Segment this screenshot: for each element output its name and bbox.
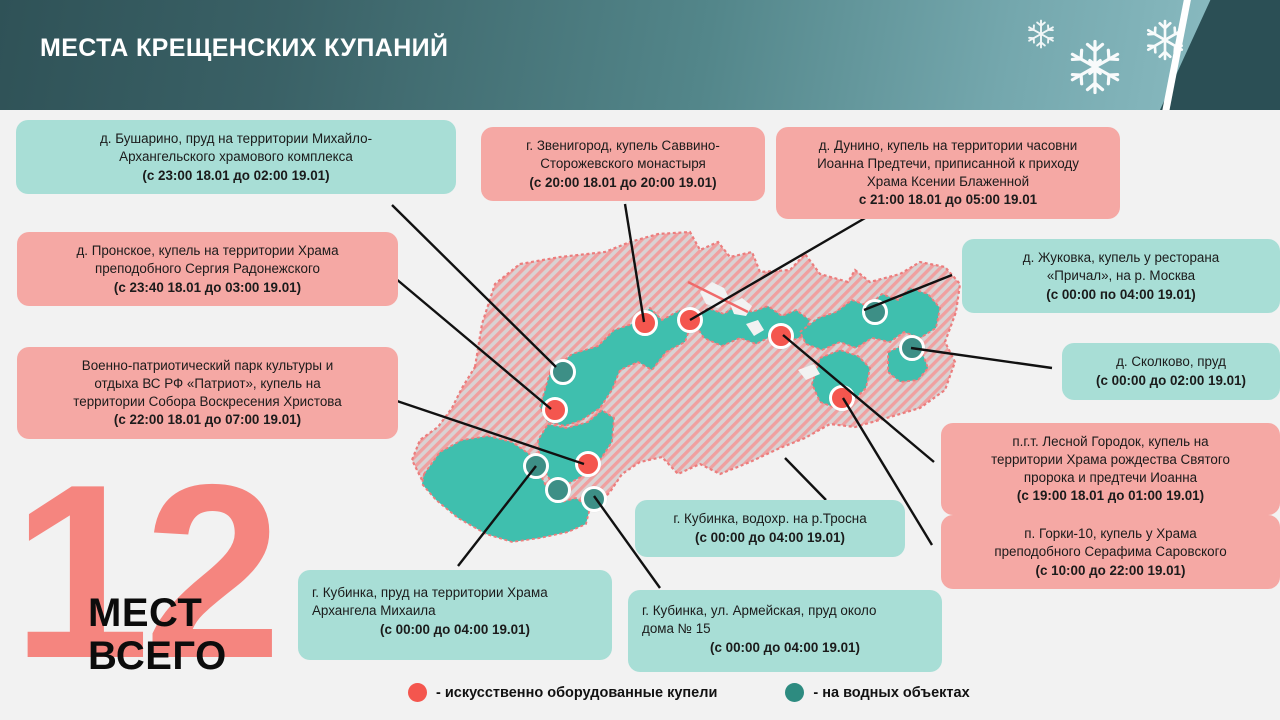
marker-pronskoe[interactable] <box>542 397 568 423</box>
card-line: Храма Ксении Блаженной <box>790 173 1106 191</box>
marker-kubinka-3[interactable] <box>581 486 607 512</box>
total-count-label-line1: МЕСТ <box>88 592 227 635</box>
card-time: (с 22:00 18.01 до 07:00 19.01) <box>31 411 384 429</box>
card-time: (с 23:40 18.01 до 03:00 19.01) <box>31 279 384 297</box>
legend-item-artificial: - искусственно оборудованные купели <box>408 683 717 702</box>
marker-zhukovka[interactable] <box>862 299 888 325</box>
marker-patriot[interactable] <box>575 451 601 477</box>
legend: - искусственно оборудованные купели - на… <box>408 683 970 702</box>
infographic-root: МЕСТА КРЕЩЕНСКИХ КУПАНИЙ <box>0 0 1280 720</box>
card-line: преподобного Серафима Саровского <box>955 543 1266 561</box>
card-line: пророка и предтечи Иоанна <box>955 469 1266 487</box>
card-line: преподобного Сергия Радонежского <box>31 260 384 278</box>
legend-label: - искусственно оборудованные купели <box>436 685 717 701</box>
card-kubinka-trosna[interactable]: г. Кубинка, водохр. на р.Тросна (с 00:00… <box>635 500 905 557</box>
legend-label: - на водных объектах <box>813 685 969 701</box>
marker-zvenigorod[interactable] <box>632 310 658 336</box>
card-dunino[interactable]: д. Дунино, купель на территории часовни … <box>776 127 1120 219</box>
snowflake-icon <box>1025 18 1057 50</box>
total-count-label-line2: ВСЕГО <box>88 635 227 678</box>
card-zvenigorod[interactable]: г. Звенигород, купель Саввино- Сторожевс… <box>481 127 765 201</box>
card-line: Архангельского храмового комплекса <box>30 148 442 166</box>
snowflake-icon <box>1143 18 1187 62</box>
marker-gorki10[interactable] <box>829 385 855 411</box>
card-line: территории Собора Воскресения Христова <box>31 393 384 411</box>
marker-busharino[interactable] <box>550 359 576 385</box>
marker-kubinka-1[interactable] <box>523 453 549 479</box>
card-gorki-10[interactable]: п. Горки-10, купель у Храма преподобного… <box>941 515 1280 589</box>
card-lesnoy-gorodok[interactable]: п.г.т. Лесной Городок, купель на террито… <box>941 423 1280 515</box>
card-line: д. Жуковка, купель у ресторана <box>976 249 1266 267</box>
card-line: д. Пронское, купель на территории Храма <box>31 242 384 260</box>
card-time: (с 23:00 18.01 до 02:00 19.01) <box>30 167 442 185</box>
legend-item-natural: - на водных объектах <box>785 683 969 702</box>
card-line: Архангела Михаила <box>312 602 598 620</box>
snowflake-icon <box>1066 38 1124 96</box>
marker-dunino[interactable] <box>677 307 703 333</box>
total-count-label: МЕСТ ВСЕГО <box>88 592 227 678</box>
card-line: «Причал», на р. Москва <box>976 267 1266 285</box>
page-header: МЕСТА КРЕЩЕНСКИХ КУПАНИЙ <box>0 0 1280 110</box>
card-line: г. Кубинка, ул. Армейская, пруд около <box>642 602 928 620</box>
card-time: (с 00:00 до 04:00 19.01) <box>649 529 891 547</box>
card-line: д. Сколково, пруд <box>1076 353 1266 371</box>
card-line: Сторожевского монастыря <box>495 155 751 173</box>
card-patriot[interactable]: Военно-патриотический парк культуры и от… <box>17 347 398 439</box>
legend-teal-dot-icon <box>785 683 804 702</box>
card-zhukovka[interactable]: д. Жуковка, купель у ресторана «Причал»,… <box>962 239 1280 313</box>
card-time: (с 10:00 до 22:00 19.01) <box>955 562 1266 580</box>
legend-red-dot-icon <box>408 683 427 702</box>
card-line: п.г.т. Лесной Городок, купель на <box>955 433 1266 451</box>
card-time: (с 19:00 18.01 до 01:00 19.01) <box>955 487 1266 505</box>
card-line: дома № 15 <box>642 620 928 638</box>
page-title: МЕСТА КРЕЩЕНСКИХ КУПАНИЙ <box>40 34 448 63</box>
marker-lesnoy[interactable] <box>768 323 794 349</box>
card-skolkovo[interactable]: д. Сколково, пруд (с 00:00 до 02:00 19.0… <box>1062 343 1280 400</box>
card-line: отдыха ВС РФ «Патриот», купель на <box>31 375 384 393</box>
card-line: Военно-патриотический парк культуры и <box>31 357 384 375</box>
card-kubinka-armeyskaya[interactable]: г. Кубинка, ул. Армейская, пруд около до… <box>628 590 942 672</box>
card-time: (с 00:00 по 04:00 19.01) <box>976 286 1266 304</box>
card-line: территории Храма рождества Святого <box>955 451 1266 469</box>
card-line: д. Бушарино, пруд на территории Михайло- <box>30 130 442 148</box>
card-busharino[interactable]: д. Бушарино, пруд на территории Михайло-… <box>16 120 456 194</box>
card-line: г. Кубинка, водохр. на р.Тросна <box>649 510 891 528</box>
card-line: д. Дунино, купель на территории часовни <box>790 137 1106 155</box>
card-time: (с 00:00 до 04:00 19.01) <box>642 639 928 657</box>
marker-skolkovo[interactable] <box>899 335 925 361</box>
card-line: п. Горки-10, купель у Храма <box>955 525 1266 543</box>
card-line: Иоанна Предтечи, приписанной к приходу <box>790 155 1106 173</box>
card-time: с 21:00 18.01 до 05:00 19.01 <box>790 191 1106 209</box>
marker-kubinka-2[interactable] <box>545 477 571 503</box>
card-line: г. Кубинка, пруд на территории Храма <box>312 584 598 602</box>
card-pronskoe[interactable]: д. Пронское, купель на территории Храма … <box>17 232 398 306</box>
card-kubinka-mihaila[interactable]: г. Кубинка, пруд на территории Храма Арх… <box>298 570 612 660</box>
card-time: (с 00:00 до 04:00 19.01) <box>312 621 598 639</box>
card-line: г. Звенигород, купель Саввино- <box>495 137 751 155</box>
card-time: (с 00:00 до 02:00 19.01) <box>1076 372 1266 390</box>
card-time: (с 20:00 18.01 до 20:00 19.01) <box>495 174 751 192</box>
